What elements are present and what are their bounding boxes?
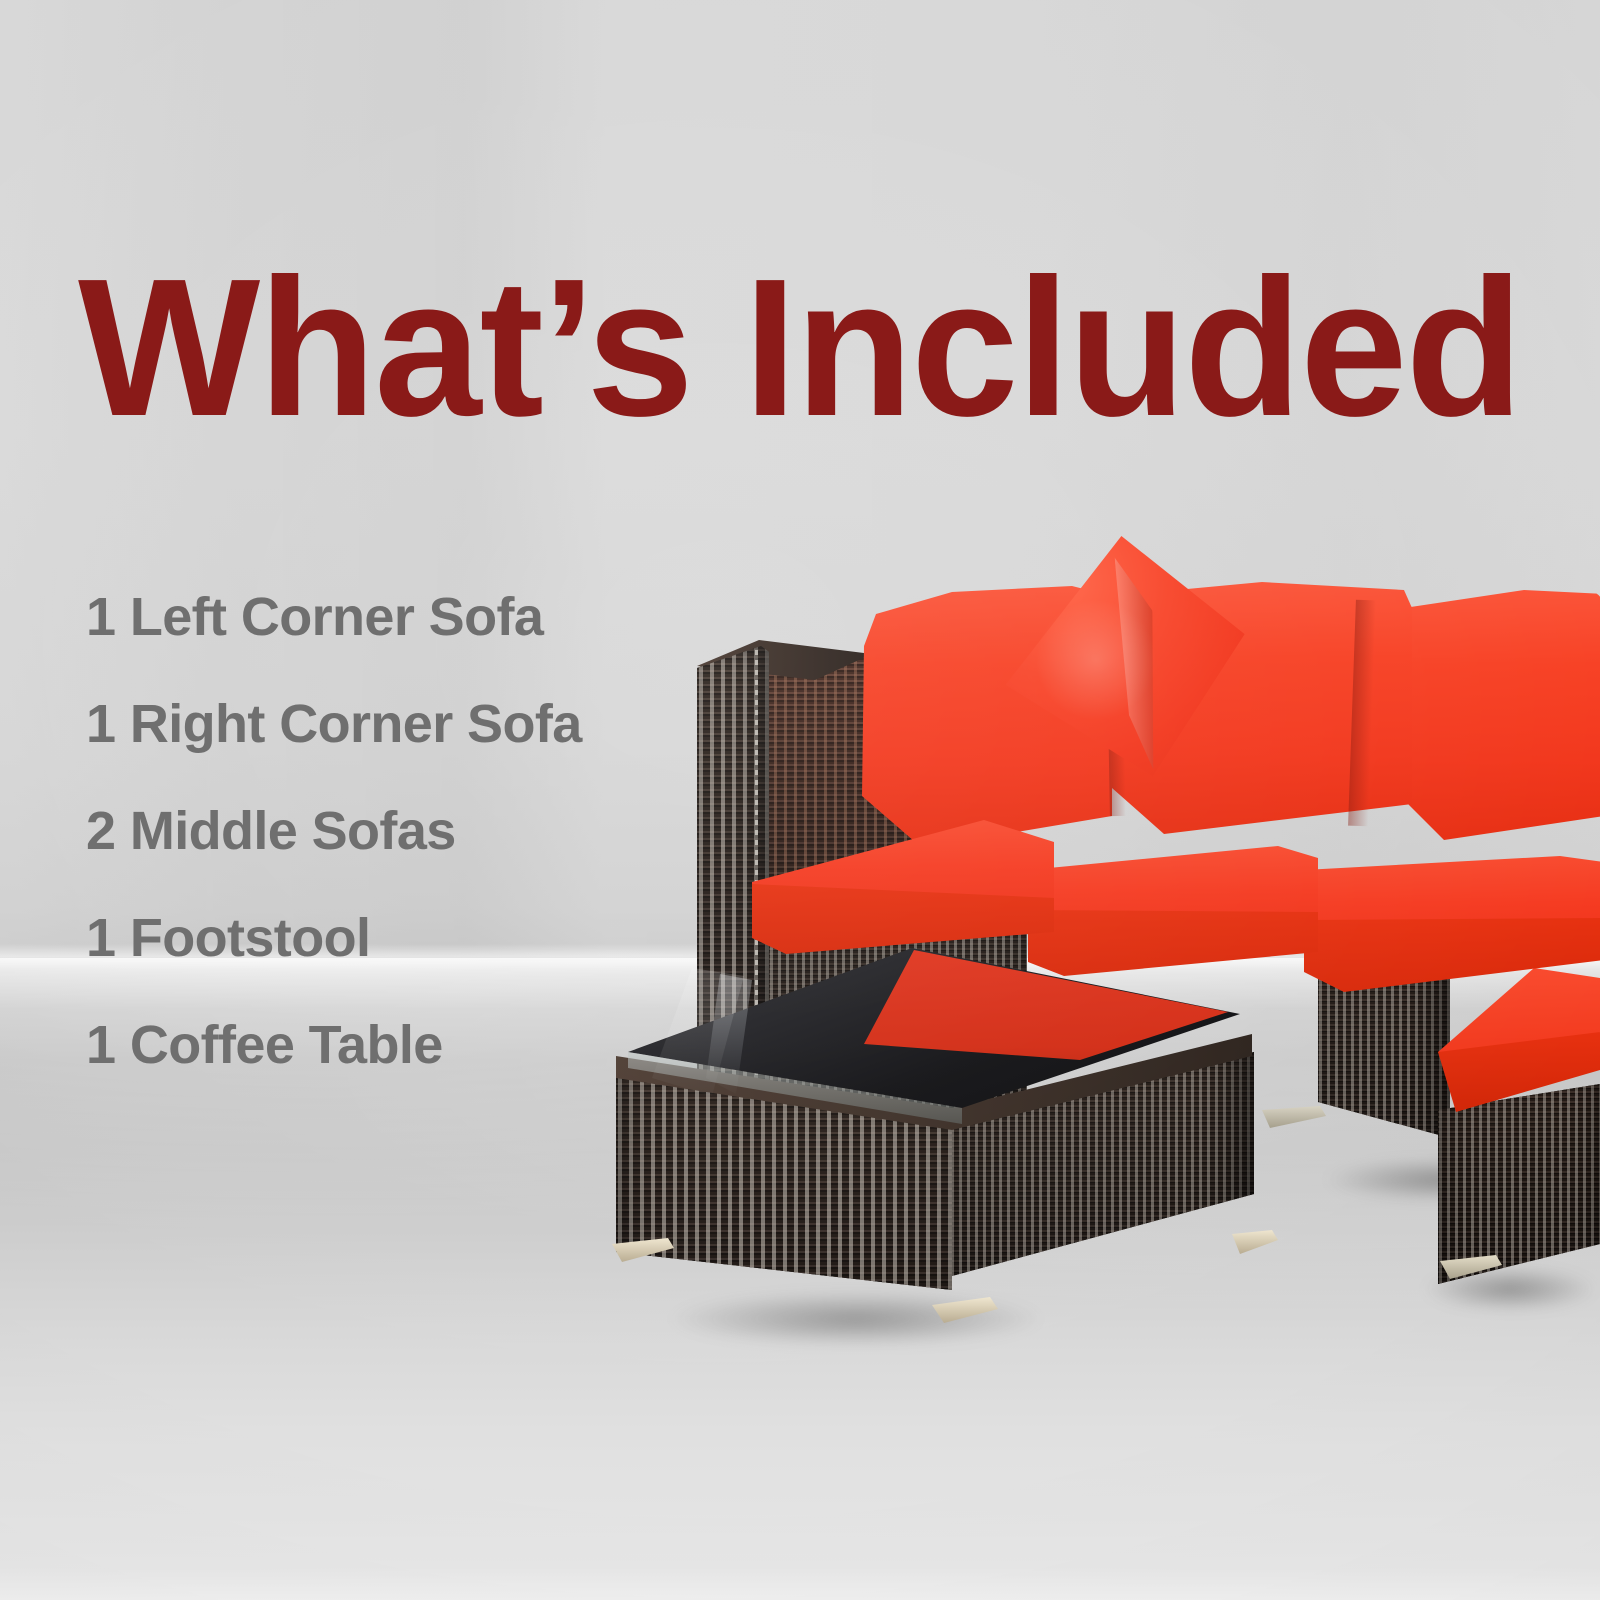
included-items-list: 1 Left Corner Sofa 1 Right Corner Sofa 2… bbox=[86, 590, 706, 1125]
list-item-label: 1 Left Corner Sofa bbox=[86, 590, 543, 644]
list-item: 1 Left Corner Sofa bbox=[86, 590, 706, 697]
list-item-label: 1 Right Corner Sofa bbox=[86, 697, 582, 751]
whats-included-product-graphic: What’s Included 1 Left Corner Sofa 1 Rig… bbox=[0, 0, 1600, 1600]
list-item-label: 1 Coffee Table bbox=[86, 1018, 443, 1072]
list-item-label: 2 Middle Sofas bbox=[86, 804, 456, 858]
list-item: 1 Coffee Table bbox=[86, 1018, 706, 1125]
list-item: 2 Middle Sofas bbox=[86, 804, 706, 911]
page-title: What’s Included bbox=[78, 253, 1526, 443]
list-item-label: 1 Footstool bbox=[86, 911, 370, 965]
list-item: 1 Footstool bbox=[86, 911, 706, 1018]
list-item: 1 Right Corner Sofa bbox=[86, 697, 706, 804]
